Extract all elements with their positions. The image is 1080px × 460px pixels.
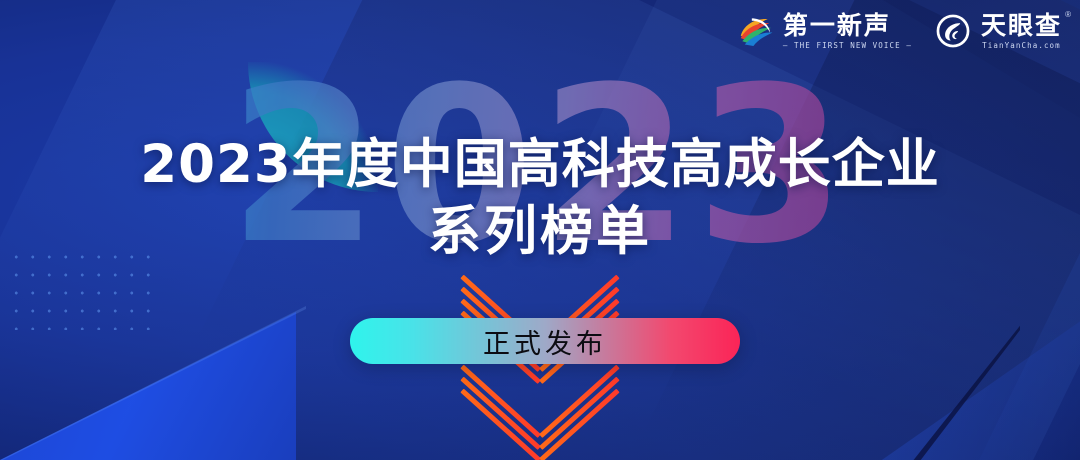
bottom-left-wedge-edge <box>0 306 306 460</box>
tianyancha-text: 天眼查 ® TianYanCha.com <box>981 13 1062 50</box>
logo-name-cn: 天眼查 <box>981 11 1062 40</box>
logo-name-en: TianYanCha.com <box>981 42 1062 50</box>
poster-banner: 2023 2023年度中国高科技高成长企业 系列榜单 正式发布 <box>0 0 1080 460</box>
title-line-1: 2023年度中国高科技高成长企业 <box>0 135 1080 195</box>
page-title: 2023年度中国高科技高成长企业 系列榜单 <box>0 135 1080 264</box>
bottom-left-wedge <box>0 312 296 460</box>
logo-first-new-voice[interactable]: 第一新声 — THE FIRST NEW VOICE — <box>736 12 912 50</box>
first-new-voice-swoosh-icon <box>736 12 774 50</box>
logo-bar: 第一新声 — THE FIRST NEW VOICE — 天眼查 ® TianY… <box>736 12 1062 50</box>
trademark-icon: ® <box>1065 11 1071 19</box>
logo-name-cn: 第一新声 <box>783 13 912 38</box>
release-cta-label: 正式发布 <box>483 322 607 361</box>
tianyancha-eye-icon <box>934 12 972 50</box>
bottom-right-wedge-line <box>780 317 1020 460</box>
first-new-voice-text: 第一新声 — THE FIRST NEW VOICE — <box>783 13 912 50</box>
bottom-right-wedge <box>792 320 1080 460</box>
logo-tianyancha[interactable]: 天眼查 ® TianYanCha.com <box>934 12 1062 50</box>
title-line-2: 系列榜单 <box>0 200 1080 264</box>
logo-name-en: — THE FIRST NEW VOICE — <box>783 42 912 50</box>
release-cta-button[interactable]: 正式发布 <box>350 318 740 364</box>
